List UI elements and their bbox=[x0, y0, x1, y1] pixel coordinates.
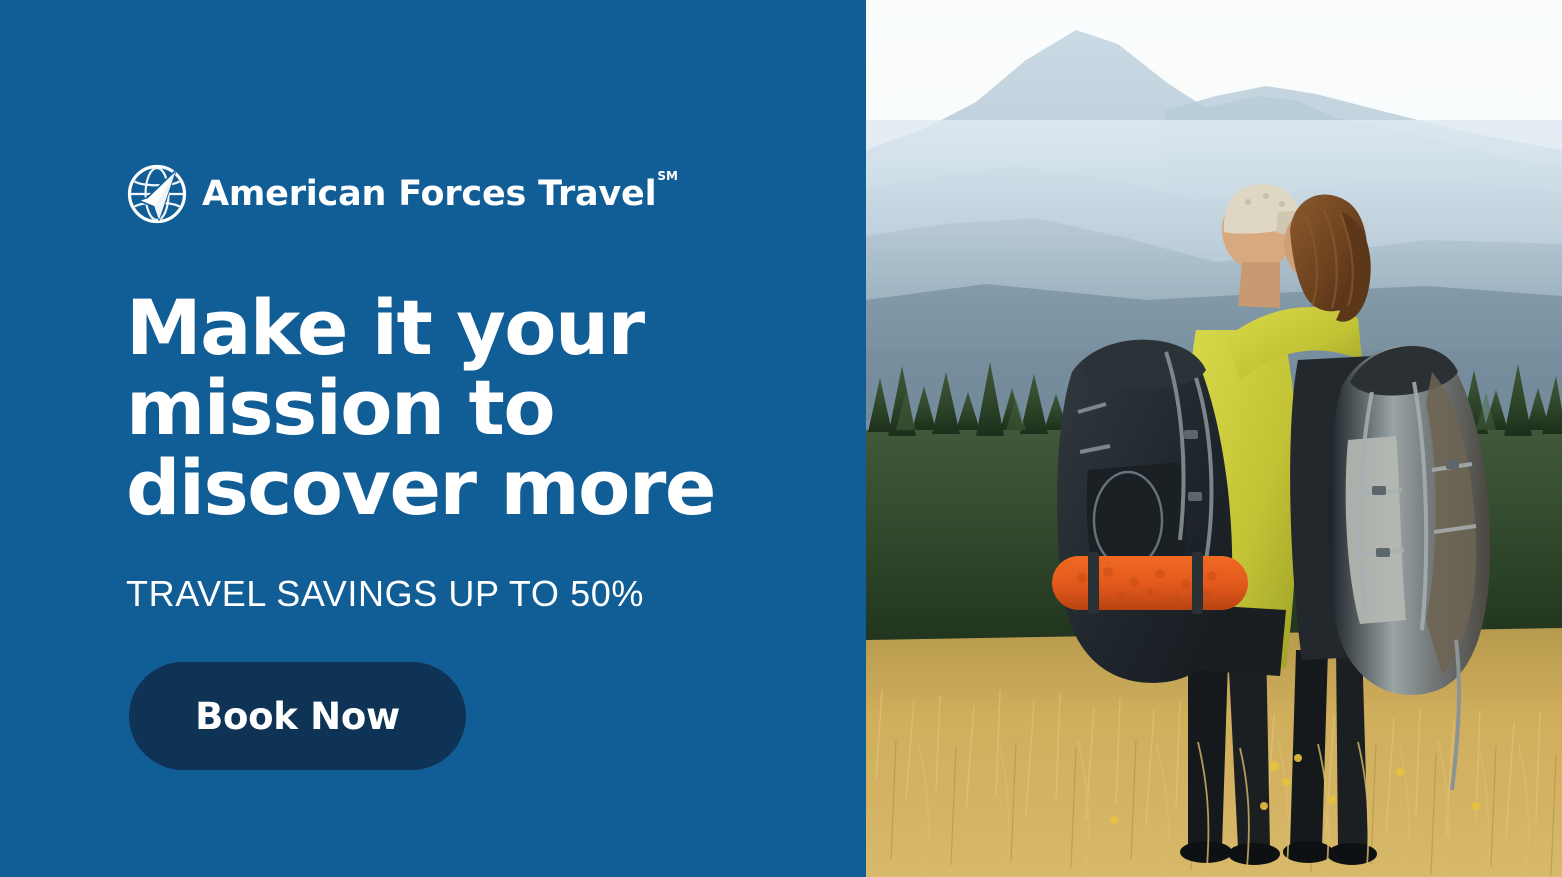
globe-compass-arrow-icon bbox=[126, 163, 188, 225]
hero-photo bbox=[866, 0, 1562, 877]
promo-banner: American Forces TravelSM Make it your mi… bbox=[0, 0, 1562, 877]
book-now-button[interactable]: Book Now bbox=[129, 662, 466, 770]
brand-name-text: American Forces Travel bbox=[202, 174, 656, 214]
headline-line-1: Make it your bbox=[126, 288, 786, 368]
subheadline: TRAVEL SAVINGS UP TO 50% bbox=[126, 573, 644, 615]
headline-line-3: discover more bbox=[126, 448, 786, 528]
hikers-mountain-photo bbox=[866, 0, 1562, 877]
service-mark: SM bbox=[657, 169, 678, 183]
page-title: Make it your mission to discover more bbox=[126, 288, 786, 528]
brand-logo[interactable]: American Forces TravelSM bbox=[126, 163, 677, 225]
brand-wordmark: American Forces TravelSM bbox=[202, 174, 677, 214]
left-content-panel: American Forces TravelSM Make it your mi… bbox=[0, 0, 866, 877]
headline-line-2: mission to bbox=[126, 368, 786, 448]
